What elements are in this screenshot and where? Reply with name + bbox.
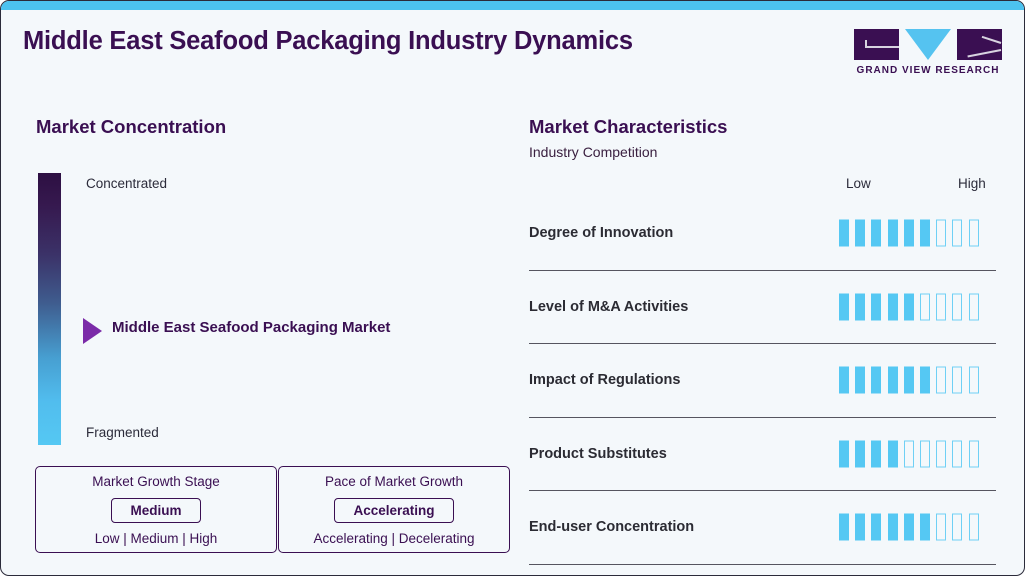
meter-tick-empty [936,367,946,394]
logo-block-left-icon [854,29,899,60]
pace-of-market-growth-options: Accelerating | Decelerating [313,531,474,546]
meter-tick-filled [855,220,865,247]
meter-tick-filled [839,440,849,467]
characteristic-row: Product Substitutes [529,418,996,492]
characteristic-row: Degree of Innovation [529,197,996,271]
meter-tick-filled [888,514,898,541]
meter-tick-empty [920,293,930,320]
meter-tick-empty [969,293,979,320]
meter-tick-filled [888,367,898,394]
logo-marks [854,29,1002,60]
meter-tick-empty [936,293,946,320]
meter-tick-filled [904,514,914,541]
meter-tick-empty [936,514,946,541]
characteristic-row: Impact of Regulations [529,344,996,418]
meter-tick-filled [855,514,865,541]
top-accent-bar [1,1,1025,10]
meter-tick-filled [871,514,881,541]
meter-tick-empty [969,440,979,467]
meter-tick-filled [855,440,865,467]
meter-tick-empty [952,514,962,541]
meter-tick-empty [952,440,962,467]
meter-tick-filled [871,367,881,394]
meter-tick-filled [904,220,914,247]
characteristic-meter [839,514,979,541]
characteristic-meter [839,440,979,467]
characteristic-label: Product Substitutes [529,446,667,462]
meter-tick-empty [904,440,914,467]
meter-tick-empty [952,220,962,247]
meter-tick-empty [952,293,962,320]
characteristics-rows: Degree of InnovationLevel of M&A Activit… [529,197,996,565]
logo-text: GRAND VIEW RESEARCH [854,65,1002,76]
characteristic-row: Level of M&A Activities [529,271,996,345]
market-growth-stage-box: Market Growth Stage Medium Low | Medium … [35,466,277,553]
meter-tick-filled [920,220,930,247]
pace-of-market-growth-heading: Pace of Market Growth [325,474,463,489]
meter-tick-filled [855,367,865,394]
logo: GRAND VIEW RESEARCH [854,29,1002,76]
scale-label-high: High [958,176,986,191]
meter-tick-filled [839,293,849,320]
meter-tick-filled [839,367,849,394]
meter-tick-filled [904,293,914,320]
meter-tick-empty [969,220,979,247]
concentration-gradient-bar [38,173,61,445]
market-characteristics-title: Market Characteristics [529,116,727,138]
market-growth-stage-options: Low | Medium | High [95,531,218,546]
pace-of-market-growth-box: Pace of Market Growth Accelerating Accel… [278,466,510,553]
pace-of-market-growth-value: Accelerating [334,498,453,523]
characteristic-label: Degree of Innovation [529,225,673,241]
characteristic-label: Impact of Regulations [529,372,680,388]
concentration-marker-label: Middle East Seafood Packaging Market [112,319,390,336]
meter-tick-filled [839,220,849,247]
gradient-label-concentrated: Concentrated [86,176,167,191]
header: Middle East Seafood Packaging Industry D… [1,10,1025,86]
meter-tick-empty [920,440,930,467]
meter-tick-empty [936,220,946,247]
market-growth-stage-heading: Market Growth Stage [92,474,220,489]
infographic-card: Middle East Seafood Packaging Industry D… [0,0,1025,576]
meter-tick-empty [969,514,979,541]
market-concentration-title: Market Concentration [36,116,226,138]
meter-tick-empty [936,440,946,467]
concentration-marker-arrow-icon [83,318,102,344]
meter-tick-filled [888,220,898,247]
meter-tick-filled [855,293,865,320]
market-growth-stage-value: Medium [111,498,200,523]
meter-tick-filled [871,293,881,320]
gradient-label-fragmented: Fragmented [86,425,159,440]
meter-tick-filled [871,220,881,247]
meter-tick-empty [969,367,979,394]
meter-tick-filled [871,440,881,467]
meter-tick-filled [888,293,898,320]
meter-tick-filled [920,367,930,394]
logo-triangle-icon [905,29,951,60]
logo-block-right-icon [957,29,1002,60]
scale-label-low: Low [846,176,871,191]
meter-tick-filled [904,367,914,394]
characteristic-label: Level of M&A Activities [529,299,688,315]
market-characteristics-subtitle: Industry Competition [529,144,657,160]
characteristic-meter [839,293,979,320]
page-title: Middle East Seafood Packaging Industry D… [23,27,633,56]
characteristic-meter [839,367,979,394]
meter-tick-filled [920,514,930,541]
characteristic-label: End-user Concentration [529,519,694,535]
characteristic-row: End-user Concentration [529,491,996,565]
meter-tick-empty [952,367,962,394]
meter-tick-filled [839,514,849,541]
meter-tick-filled [888,440,898,467]
characteristic-meter [839,220,979,247]
